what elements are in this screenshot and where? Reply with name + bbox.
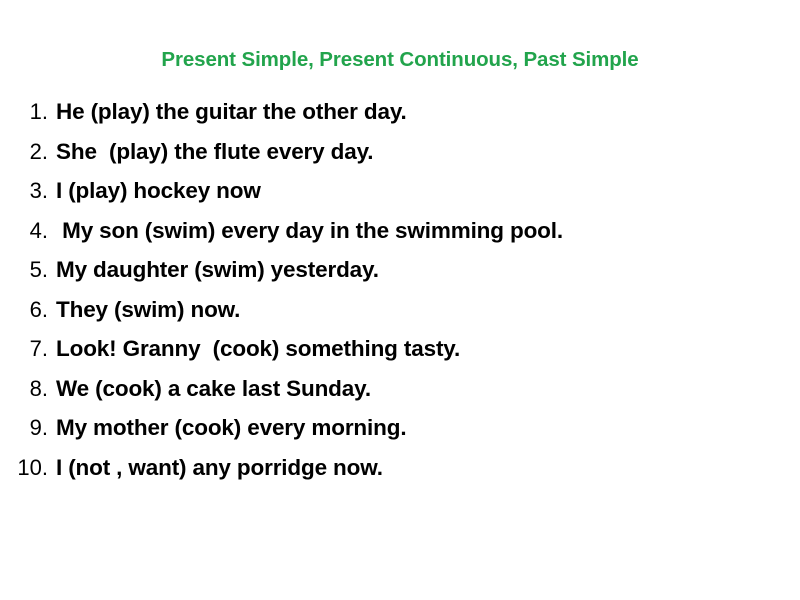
page-title: Present Simple, Present Continuous, Past… bbox=[0, 48, 800, 72]
list-item-text: She (play) the flute every day. bbox=[48, 132, 800, 172]
list-item: 1. He (play) the guitar the other day. bbox=[0, 92, 800, 132]
list-item-text: They (swim) now. bbox=[48, 290, 800, 330]
list-item-text: My daughter (swim) yesterday. bbox=[48, 250, 800, 290]
list-item-text: He (play) the guitar the other day. bbox=[48, 92, 800, 132]
list-item-text: Look! Granny (cook) something tasty. bbox=[48, 329, 800, 369]
list-item: 10. I (not , want) any porridge now. bbox=[0, 448, 800, 488]
list-item-text: We (cook) a cake last Sunday. bbox=[48, 369, 800, 409]
list-item: 8. We (cook) a cake last Sunday. bbox=[0, 369, 800, 409]
slide-canvas: Present Simple, Present Continuous, Past… bbox=[0, 0, 800, 600]
list-item: 9. My mother (cook) every morning. bbox=[0, 408, 800, 448]
list-item-number: 10. bbox=[0, 448, 48, 488]
list-item-number: 7. bbox=[0, 329, 48, 369]
list-item-number: 5. bbox=[0, 250, 48, 290]
list-item-number: 3. bbox=[0, 171, 48, 211]
list-item-number: 9. bbox=[0, 408, 48, 448]
list-item-text: My son (swim) every day in the swimming … bbox=[48, 211, 800, 251]
list-item-number: 6. bbox=[0, 290, 48, 330]
exercise-list: 1. He (play) the guitar the other day. 2… bbox=[0, 92, 800, 487]
list-item-text: I (not , want) any porridge now. bbox=[48, 448, 800, 488]
list-item-number: 4. bbox=[0, 211, 48, 251]
list-item-text: I (play) hockey now bbox=[48, 171, 800, 211]
list-item: 5. My daughter (swim) yesterday. bbox=[0, 250, 800, 290]
list-item: 6. They (swim) now. bbox=[0, 290, 800, 330]
list-item-number: 1. bbox=[0, 92, 48, 132]
list-item: 2. She (play) the flute every day. bbox=[0, 132, 800, 172]
list-item: 7. Look! Granny (cook) something tasty. bbox=[0, 329, 800, 369]
list-item: 4. My son (swim) every day in the swimmi… bbox=[0, 211, 800, 251]
list-item-number: 8. bbox=[0, 369, 48, 409]
list-item-text: My mother (cook) every morning. bbox=[48, 408, 800, 448]
list-item: 3. I (play) hockey now bbox=[0, 171, 800, 211]
list-item-number: 2. bbox=[0, 132, 48, 172]
